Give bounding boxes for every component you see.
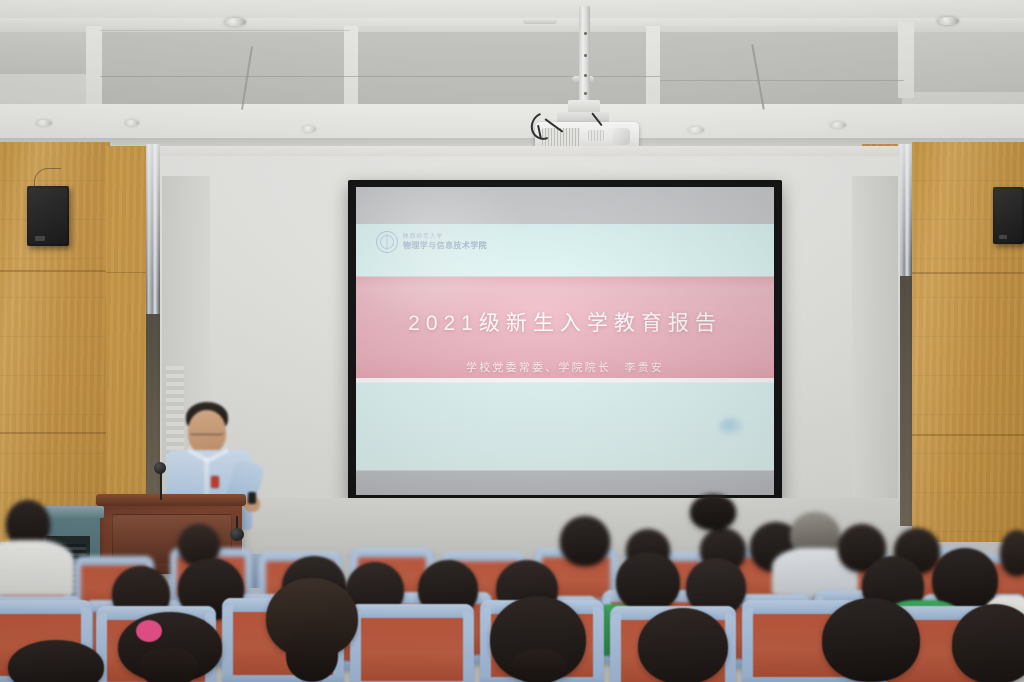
slide-subtitle: 学校党委常委、学院院长 李贵安 — [356, 359, 774, 375]
downlight-icon — [830, 122, 846, 128]
wall-white-upper — [160, 146, 900, 156]
projector-lens — [612, 128, 630, 145]
head — [822, 598, 920, 682]
ponytail — [140, 648, 198, 682]
head — [638, 608, 728, 682]
wall-speaker-left — [27, 186, 69, 246]
ponytail — [286, 632, 338, 682]
downlight-icon — [688, 127, 704, 133]
lecture-hall-photo: 陕西师范大学 物理学与信息技术学院 2021级新生入学教育报告 学校党委常委、学… — [0, 0, 1024, 682]
head — [952, 604, 1024, 682]
head — [560, 516, 610, 566]
seat — [350, 604, 474, 682]
head — [1000, 530, 1024, 576]
podium-top — [96, 494, 246, 506]
downlight-icon — [937, 17, 959, 25]
downlight-icon — [224, 18, 246, 26]
downlight-icon — [302, 126, 316, 132]
microphone-head — [154, 462, 166, 474]
ceiling — [0, 0, 1024, 148]
wall-alcove-right — [852, 176, 898, 506]
head — [690, 494, 736, 530]
slide-title: 2021级新生入学教育报告 — [356, 307, 774, 337]
ceiling-diffuser — [523, 18, 557, 24]
shoulders — [0, 540, 74, 596]
pink-hair-tie — [136, 620, 162, 642]
downlight-icon — [36, 120, 52, 126]
university-seal-icon — [376, 231, 398, 253]
metal-trim-right — [898, 144, 913, 526]
glasses-icon — [190, 426, 224, 435]
ponytail — [512, 650, 566, 682]
microphone-head-2 — [230, 528, 244, 541]
presenter-badge — [211, 476, 219, 488]
presentation-slide: 陕西师范大学 物理学与信息技术学院 2021级新生入学教育报告 学校党委常委、学… — [356, 187, 774, 495]
presentation-clicker — [248, 492, 256, 504]
head — [616, 552, 680, 612]
downlight-icon — [125, 120, 139, 126]
projection-screen: 陕西师范大学 物理学与信息技术学院 2021级新生入学教育报告 学校党委常委、学… — [356, 187, 774, 495]
slide-decoration-blob — [718, 417, 746, 437]
wall-speaker-right — [993, 187, 1024, 244]
slide-logo: 陕西师范大学 物理学与信息技术学院 — [376, 231, 487, 253]
slide-logo-faculty: 物理学与信息技术学院 — [403, 241, 487, 250]
